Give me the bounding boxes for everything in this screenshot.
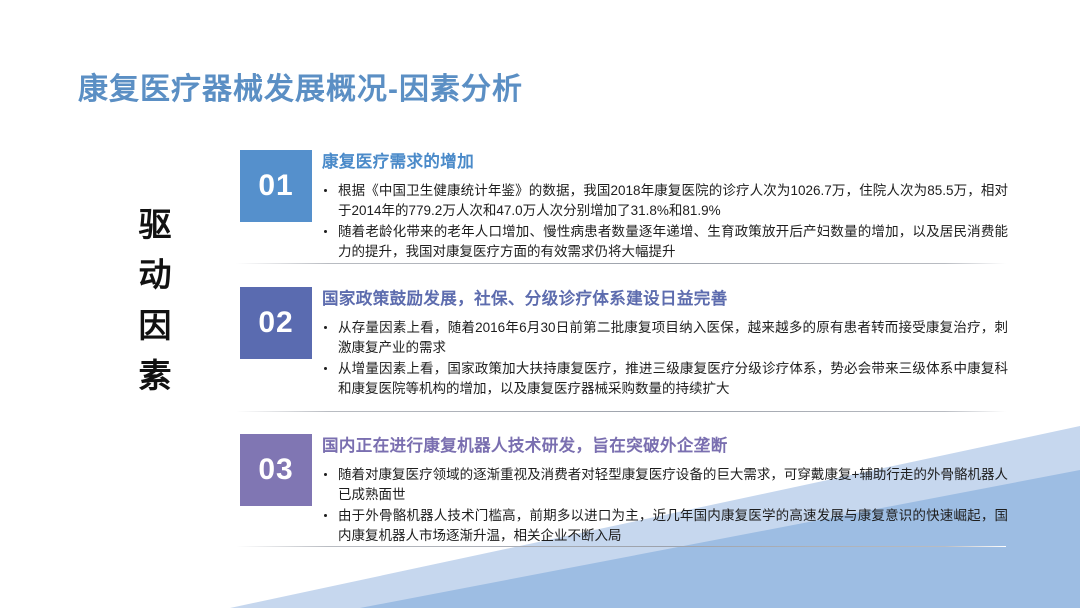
block-separator: [236, 411, 1006, 412]
block-number-badge: 01: [240, 150, 312, 222]
block-bullet-list: 随着对康复医疗领域的逐渐重视及消费者对轻型康复医疗设备的巨大需求，可穿戴康复+辅…: [322, 465, 1008, 545]
block-body: 国内正在进行康复机器人技术研发，旨在突破外企垄断 随着对康复医疗领域的逐渐重视及…: [322, 436, 1008, 545]
block-body: 康复医疗需求的增加 根据《中国卫生健康统计年鉴》的数据，我国2018年康复医院的…: [322, 152, 1008, 261]
list-item: 由于外骨骼机器人技术门槛高，前期多以进口为主，近几年国内康复医学的高速发展与康复…: [322, 506, 1008, 545]
vertical-label-char-1: 驱: [128, 200, 182, 250]
block-bullet-list: 从存量因素上看，随着2016年6月30日前第二批康复项目纳入医保，越来越多的原有…: [322, 318, 1008, 398]
vertical-label-char-2: 动: [128, 250, 182, 300]
block-number-badge: 03: [240, 434, 312, 506]
list-item: 根据《中国卫生健康统计年鉴》的数据，我国2018年康复医院的诊疗人次为1026.…: [322, 181, 1008, 220]
list-item: 随着老龄化带来的老年人口增加、慢性病患者数量逐年递增、生育政策放开后产妇数量的增…: [322, 222, 1008, 261]
factor-block: 02 国家政策鼓励发展，社保、分级诊疗体系建设日益完善 从存量因素上看，随着20…: [240, 287, 1008, 400]
list-item: 从存量因素上看，随着2016年6月30日前第二批康复项目纳入医保，越来越多的原有…: [322, 318, 1008, 357]
page-title: 康复医疗器械发展概况-因素分析: [78, 64, 523, 108]
block-body: 国家政策鼓励发展，社保、分级诊疗体系建设日益完善 从存量因素上看，随着2016年…: [322, 289, 1008, 398]
block-bullet-list: 根据《中国卫生健康统计年鉴》的数据，我国2018年康复医院的诊疗人次为1026.…: [322, 181, 1008, 261]
vertical-label-char-4: 素: [128, 351, 182, 401]
block-separator: [236, 546, 1006, 547]
block-heading: 国内正在进行康复机器人技术研发，旨在突破外企垄断: [322, 436, 1008, 457]
slide-canvas: 康复医疗器械发展概况-因素分析 驱 动 因 素 01 康复医疗需求的增加 根据《…: [0, 0, 1080, 608]
block-heading: 康复医疗需求的增加: [322, 152, 1008, 173]
list-item: 随着对康复医疗领域的逐渐重视及消费者对轻型康复医疗设备的巨大需求，可穿戴康复+辅…: [322, 465, 1008, 504]
factor-block: 01 康复医疗需求的增加 根据《中国卫生健康统计年鉴》的数据，我国2018年康复…: [240, 150, 1008, 263]
list-item: 从增量因素上看，国家政策加大扶持康复医疗，推进三级康复医疗分级诊疗体系，势必会带…: [322, 359, 1008, 398]
block-number-badge: 02: [240, 287, 312, 359]
block-heading: 国家政策鼓励发展，社保、分级诊疗体系建设日益完善: [322, 289, 1008, 310]
block-separator: [236, 263, 1006, 264]
vertical-label-char-3: 因: [128, 301, 182, 351]
factor-block: 03 国内正在进行康复机器人技术研发，旨在突破外企垄断 随着对康复医疗领域的逐渐…: [240, 434, 1008, 547]
vertical-section-label: 驱 动 因 素: [128, 200, 182, 402]
